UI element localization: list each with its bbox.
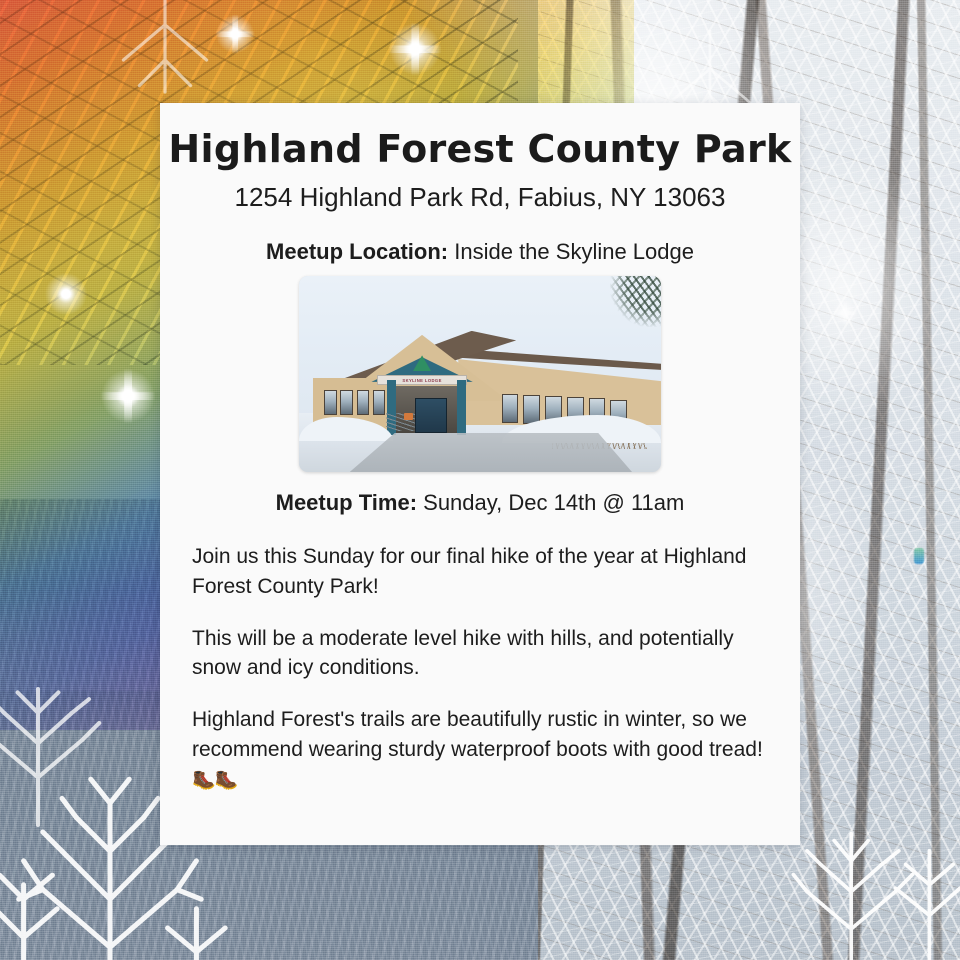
photo-entry-doors bbox=[415, 398, 448, 433]
photo-entry-post-right bbox=[457, 380, 466, 435]
meetup-location-label: Meetup Location: bbox=[266, 239, 448, 264]
paragraph-intro: Join us this Sunday for our final hike o… bbox=[192, 542, 782, 602]
meetup-location-value: Inside the Skyline Lodge bbox=[454, 239, 694, 264]
paragraph-gear: Highland Forest's trails are beautifully… bbox=[192, 705, 782, 795]
park-address: 1254 Highland Park Rd, Fabius, NY 13063 bbox=[160, 182, 800, 213]
description-body: Join us this Sunday for our final hike o… bbox=[192, 542, 782, 795]
meetup-location-line: Meetup Location: Inside the Skyline Lodg… bbox=[160, 239, 800, 265]
photo-window bbox=[340, 390, 352, 415]
paragraph-difficulty: This will be a moderate level hike with … bbox=[192, 624, 782, 684]
photo-window bbox=[523, 395, 540, 424]
hiking-boot-icon: 🥾🥾 bbox=[192, 770, 237, 791]
meetup-time-line: Meetup Time: Sunday, Dec 14th @ 11am bbox=[160, 490, 800, 516]
meetup-time-label: Meetup Time: bbox=[276, 490, 417, 515]
flyer-card: Highland Forest County Park 1254 Highlan… bbox=[160, 103, 800, 845]
photo-driveway bbox=[350, 433, 632, 472]
meetup-time-value: Sunday, Dec 14th @ 11am bbox=[423, 490, 684, 515]
photo-window bbox=[324, 390, 336, 415]
photo-pine-tree bbox=[610, 276, 661, 327]
photo-window bbox=[502, 394, 519, 423]
photo-orange-object bbox=[404, 413, 413, 420]
page-title: Highland Forest County Park bbox=[160, 129, 800, 170]
photo-window bbox=[373, 390, 385, 415]
skyline-lodge-photo: SKYLINE LODGE bbox=[299, 276, 661, 472]
lodge-photo-container: SKYLINE LODGE bbox=[160, 276, 800, 472]
distant-marker-speck bbox=[914, 548, 924, 564]
photo-window bbox=[357, 390, 369, 415]
paragraph-gear-text: Highland Forest's trails are beautifully… bbox=[192, 708, 763, 761]
